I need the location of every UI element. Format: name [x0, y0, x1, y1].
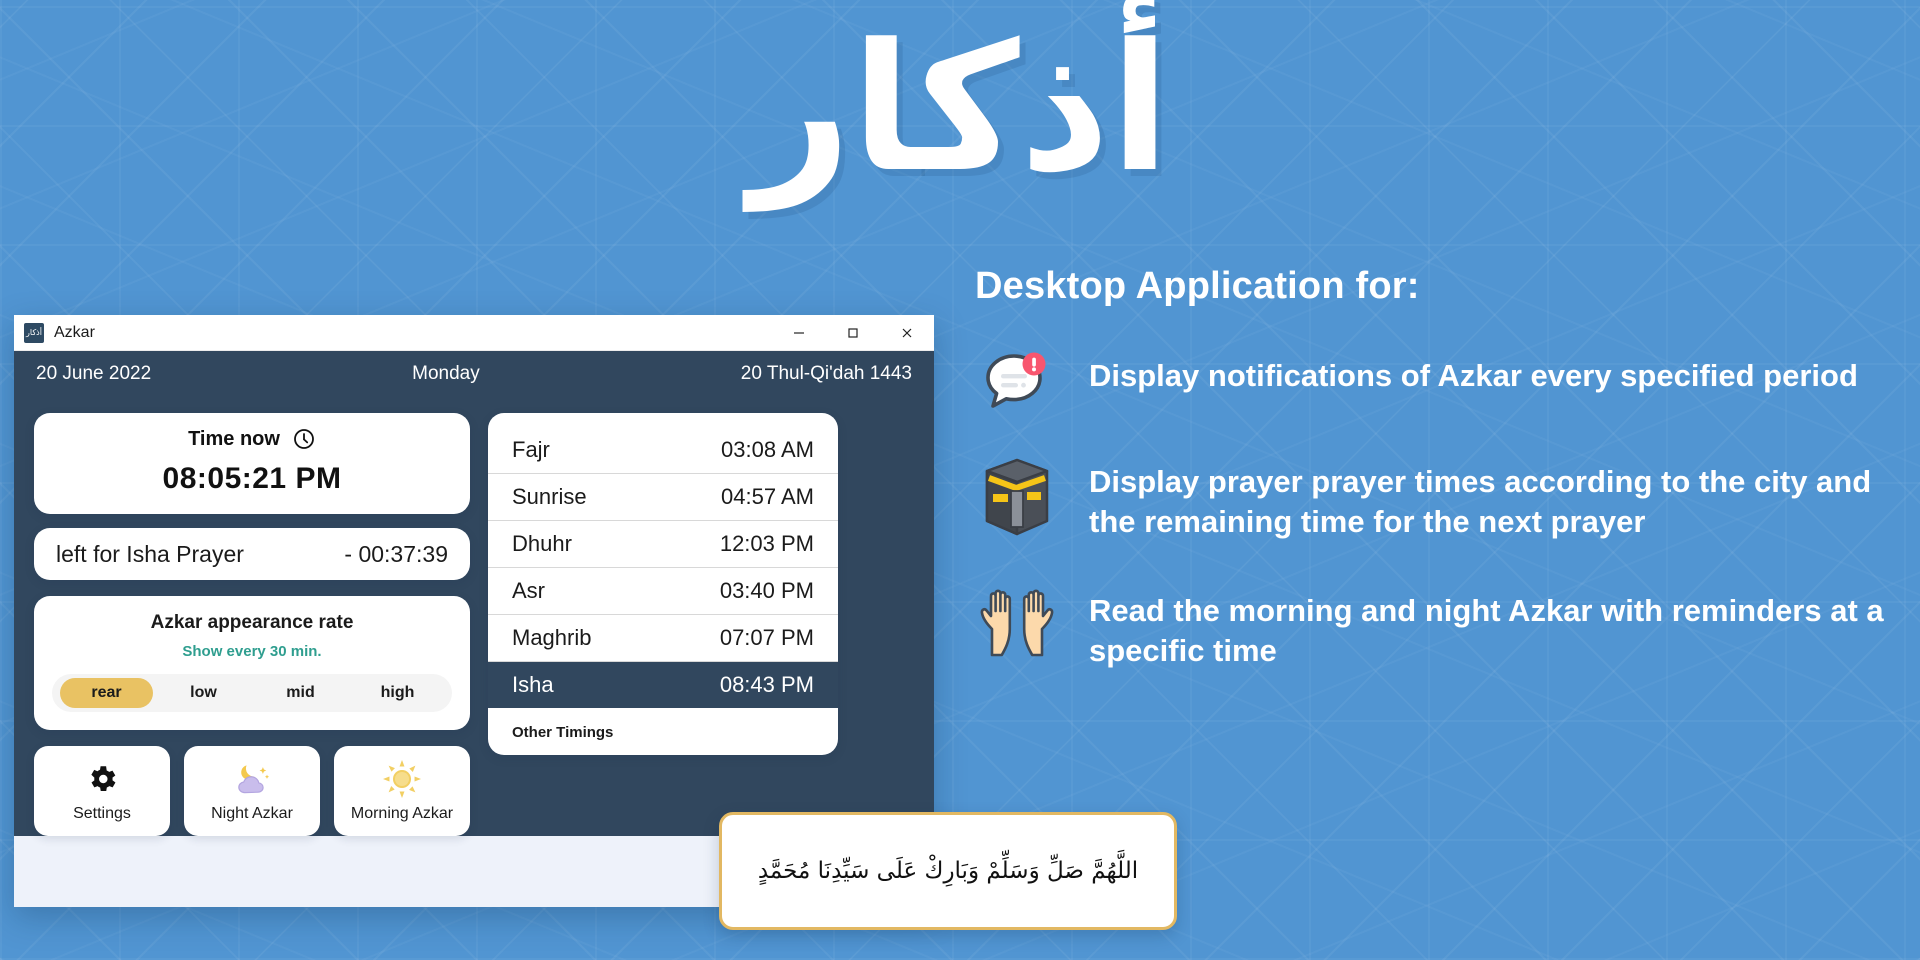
rate-option-mid[interactable]: mid: [254, 678, 347, 708]
prayer-time: 12:03 PM: [720, 531, 814, 557]
time-now-label: Time now: [188, 428, 280, 451]
minimize-icon[interactable]: [772, 315, 826, 350]
feature-text: Read the morning and night Azkar with re…: [1089, 585, 1899, 670]
gregorian-date: 20 June 2022: [36, 363, 151, 385]
time-now-label-row: Time now: [34, 427, 470, 451]
app-body: Time now 08:05:21 PM left for Isha Praye…: [14, 397, 934, 836]
prayer-time: 03:08 AM: [721, 437, 814, 463]
hijri-date: 20 Thul-Qi'dah 1443: [741, 363, 912, 385]
countdown-value: - 00:37:39: [344, 541, 448, 568]
table-row[interactable]: Maghrib 07:07 PM: [488, 615, 838, 662]
prayer-time: 07:07 PM: [720, 625, 814, 651]
feature-text: Display prayer prayer times according to…: [1089, 456, 1899, 541]
prayer-name: Dhuhr: [512, 531, 572, 557]
feature-item: Display prayer prayer times according to…: [975, 456, 1905, 541]
promo-column: Desktop Application for: Display notific…: [975, 265, 1905, 715]
weekday: Monday: [151, 363, 741, 385]
azkar-rate-card: Azkar appearance rate Show every 30 min.…: [34, 596, 470, 730]
action-tiles: Settings Night Azkar: [34, 746, 470, 836]
gear-icon: [85, 760, 119, 798]
azkar-rate-subtitle: Show every 30 min.: [52, 643, 452, 660]
other-timings-link[interactable]: Other Timings: [488, 708, 838, 745]
feature-item: Read the morning and night Azkar with re…: [975, 585, 1905, 670]
morning-azkar-button[interactable]: Morning Azkar: [334, 746, 470, 836]
raised-hands-icon: [975, 585, 1059, 659]
prayer-name: Sunrise: [512, 484, 587, 510]
kaaba-icon: [975, 456, 1059, 538]
sun-icon: [383, 760, 421, 798]
app-logo-icon: أذكار: [24, 323, 44, 343]
notification-bubble-icon: [975, 350, 1059, 412]
countdown-card: left for Isha Prayer - 00:37:39: [34, 528, 470, 580]
prayer-times-card: Fajr 03:08 AM Sunrise 04:57 AM Dhuhr 12:…: [488, 413, 838, 755]
prayer-name: Fajr: [512, 437, 550, 463]
countdown-label: left for Isha Prayer: [56, 541, 244, 568]
table-row-active[interactable]: Isha 08:43 PM: [488, 662, 838, 708]
table-row[interactable]: Dhuhr 12:03 PM: [488, 521, 838, 568]
toast-text: اللَّهُمَّ صَلِّ وَسَلِّمْ وَبَارِكْ عَل…: [758, 858, 1138, 884]
window-controls: [772, 315, 934, 350]
table-row[interactable]: Asr 03:40 PM: [488, 568, 838, 615]
prayer-time: 04:57 AM: [721, 484, 814, 510]
window-titlebar: أذكار Azkar: [14, 315, 934, 351]
night-azkar-button[interactable]: Night Azkar: [184, 746, 320, 836]
prayer-name: Maghrib: [512, 625, 591, 651]
azkar-rate-segmented-control[interactable]: rear low mid high: [52, 674, 452, 712]
right-column: Fajr 03:08 AM Sunrise 04:57 AM Dhuhr 12:…: [488, 397, 838, 755]
rate-option-rear[interactable]: rear: [60, 678, 153, 708]
prayer-time: 03:40 PM: [720, 578, 814, 604]
settings-label: Settings: [73, 805, 131, 823]
prayer-time: 08:43 PM: [720, 672, 814, 698]
date-row: 20 June 2022 Monday 20 Thul-Qi'dah 1443: [14, 351, 934, 397]
close-icon[interactable]: [880, 315, 934, 350]
time-now-value: 08:05:21 PM: [34, 462, 470, 496]
night-azkar-label: Night Azkar: [211, 805, 293, 823]
rate-option-low[interactable]: low: [157, 678, 250, 708]
promo-heading: Desktop Application for:: [975, 265, 1905, 308]
feature-text: Display notifications of Azkar every spe…: [1089, 350, 1858, 396]
prayer-name: Isha: [512, 672, 554, 698]
left-column: Time now 08:05:21 PM left for Isha Praye…: [34, 397, 470, 836]
morning-azkar-label: Morning Azkar: [351, 805, 453, 823]
time-now-card: Time now 08:05:21 PM: [34, 413, 470, 514]
rate-option-high[interactable]: high: [351, 678, 444, 708]
window-title: Azkar: [54, 324, 95, 342]
maximize-icon[interactable]: [826, 315, 880, 350]
app-header-band: 20 June 2022 Monday 20 Thul-Qi'dah 1443 …: [14, 351, 934, 836]
settings-button[interactable]: Settings: [34, 746, 170, 836]
azkar-notification-toast[interactable]: اللَّهُمَّ صَلِّ وَسَلِّمْ وَبَارِكْ عَل…: [719, 812, 1177, 930]
feature-item: Display notifications of Azkar every spe…: [975, 350, 1905, 412]
moon-cloud-icon: [232, 760, 272, 798]
table-row[interactable]: Sunrise 04:57 AM: [488, 474, 838, 521]
page-title: أذكار: [0, 8, 1920, 210]
clock-icon: [292, 427, 316, 451]
azkar-rate-title: Azkar appearance rate: [52, 612, 452, 634]
prayer-name: Asr: [512, 578, 545, 604]
table-row[interactable]: Fajr 03:08 AM: [488, 427, 838, 474]
